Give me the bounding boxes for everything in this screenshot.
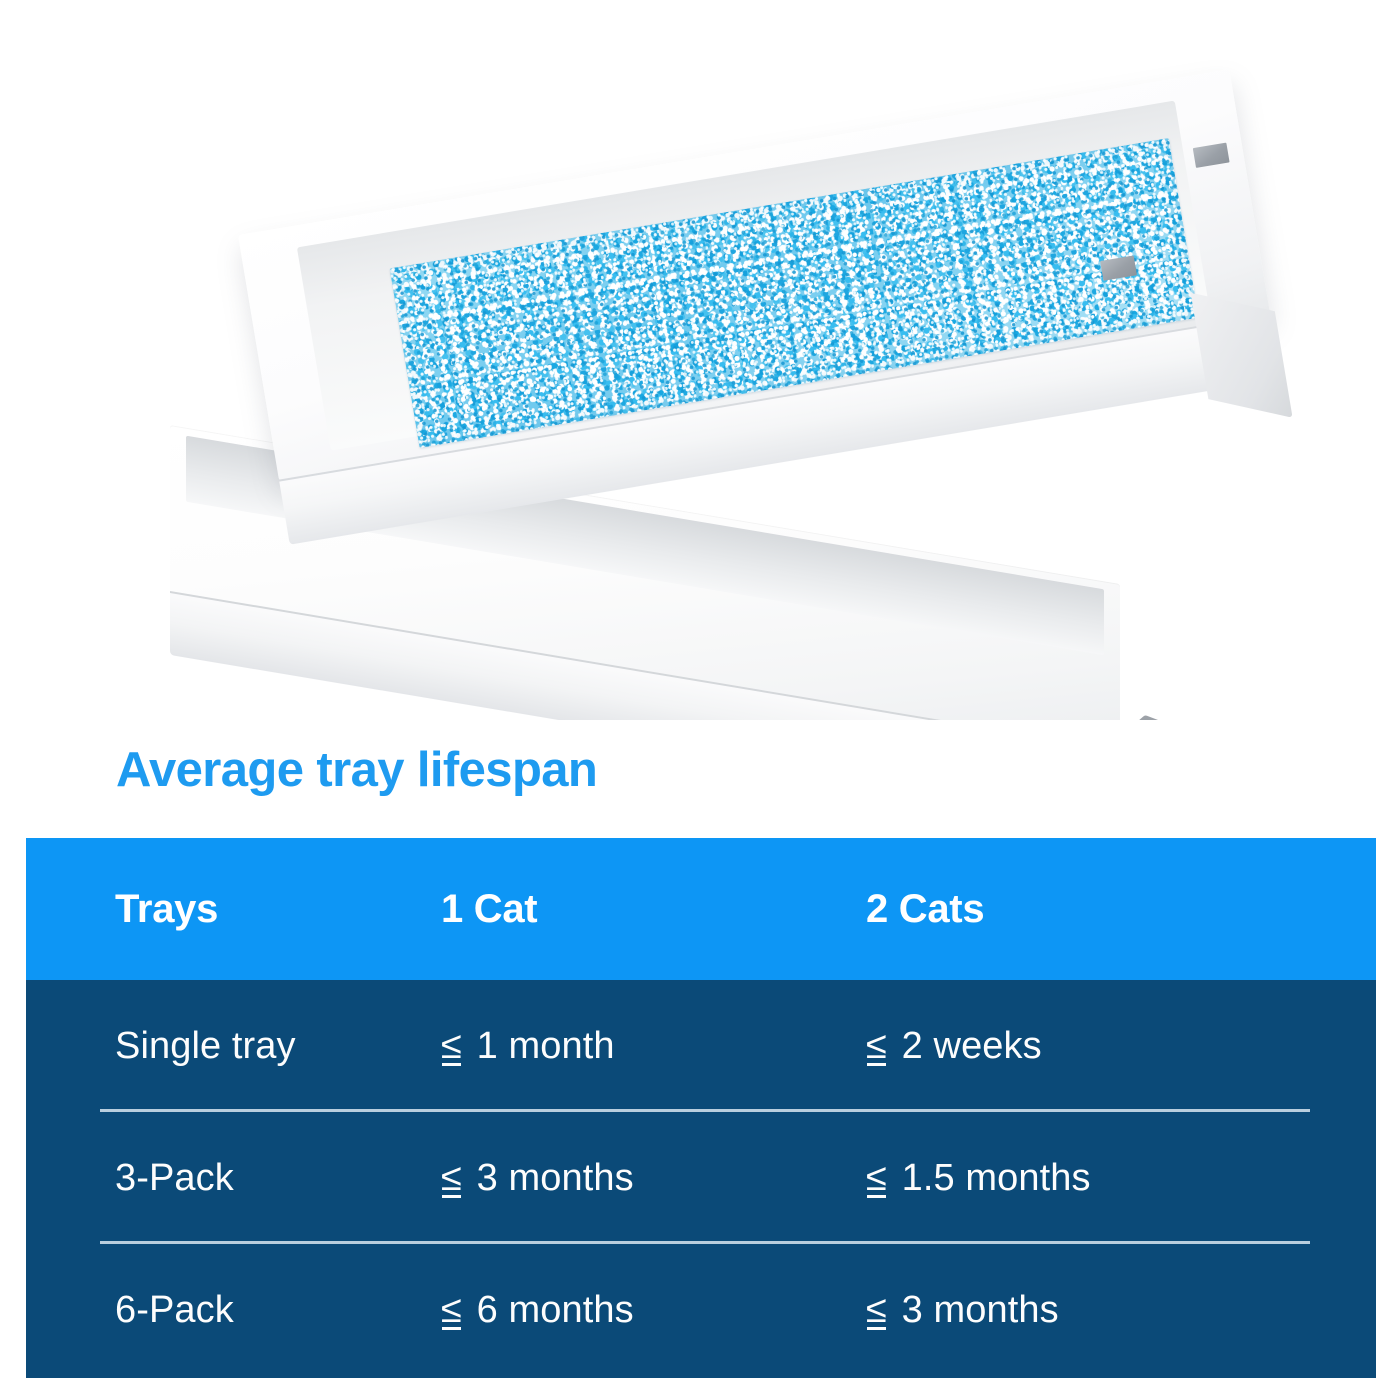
upper-tray-right-face — [1191, 293, 1293, 418]
upper-tray — [238, 69, 1284, 560]
cell-two-cats-lifespan: ≤ 2 weeks — [866, 1025, 1376, 1068]
litter-pad-tab-upper — [1193, 143, 1230, 168]
less-than-or-equal-icon: ≤ — [441, 1157, 466, 1200]
table-row: 3-Pack ≤ 3 months ≤ 1.5 months — [26, 1112, 1376, 1244]
column-header-2-cats: 2 Cats — [866, 887, 1376, 932]
cell-one-cat-lifespan: ≤ 6 months — [441, 1289, 866, 1332]
product-photo — [0, 0, 1400, 720]
cell-one-cat-value: 3 months — [477, 1157, 634, 1199]
column-header-1-cat: 1 Cat — [441, 887, 866, 932]
product-info-page: Average tray lifespan Trays 1 Cat 2 Cats… — [0, 0, 1400, 1400]
average-tray-lifespan-table: Trays 1 Cat 2 Cats Single tray ≤ 1 month… — [26, 838, 1376, 1378]
cell-one-cat-value: 6 months — [477, 1289, 634, 1331]
less-than-or-equal-icon: ≤ — [866, 1157, 891, 1200]
cell-two-cats-lifespan: ≤ 3 months — [866, 1289, 1376, 1332]
cell-two-cats-value: 3 months — [902, 1289, 1059, 1331]
cell-one-cat-lifespan: ≤ 1 month — [441, 1025, 866, 1068]
cell-one-cat-lifespan: ≤ 3 months — [441, 1157, 866, 1200]
cell-one-cat-value: 1 month — [477, 1025, 615, 1067]
cell-two-cats-value: 2 weeks — [902, 1025, 1042, 1067]
less-than-or-equal-icon: ≤ — [441, 1025, 466, 1068]
cell-tray-type: 6-Pack — [26, 1289, 441, 1332]
less-than-or-equal-icon: ≤ — [866, 1289, 891, 1332]
table-row: Single tray ≤ 1 month ≤ 2 weeks — [26, 980, 1376, 1112]
less-than-or-equal-icon: ≤ — [441, 1289, 466, 1332]
table-row: 6-Pack ≤ 6 months ≤ 3 months — [26, 1244, 1376, 1376]
page-title: Average tray lifespan — [116, 745, 597, 796]
cell-two-cats-value: 1.5 months — [902, 1157, 1091, 1199]
cell-tray-type: 3-Pack — [26, 1157, 441, 1200]
table-header-row: Trays 1 Cat 2 Cats — [26, 838, 1376, 980]
litter-tray-illustration — [160, 235, 1260, 695]
cell-tray-type: Single tray — [26, 1025, 441, 1068]
less-than-or-equal-icon: ≤ — [866, 1025, 891, 1068]
column-header-trays: Trays — [26, 887, 441, 932]
cell-two-cats-lifespan: ≤ 1.5 months — [866, 1157, 1376, 1200]
